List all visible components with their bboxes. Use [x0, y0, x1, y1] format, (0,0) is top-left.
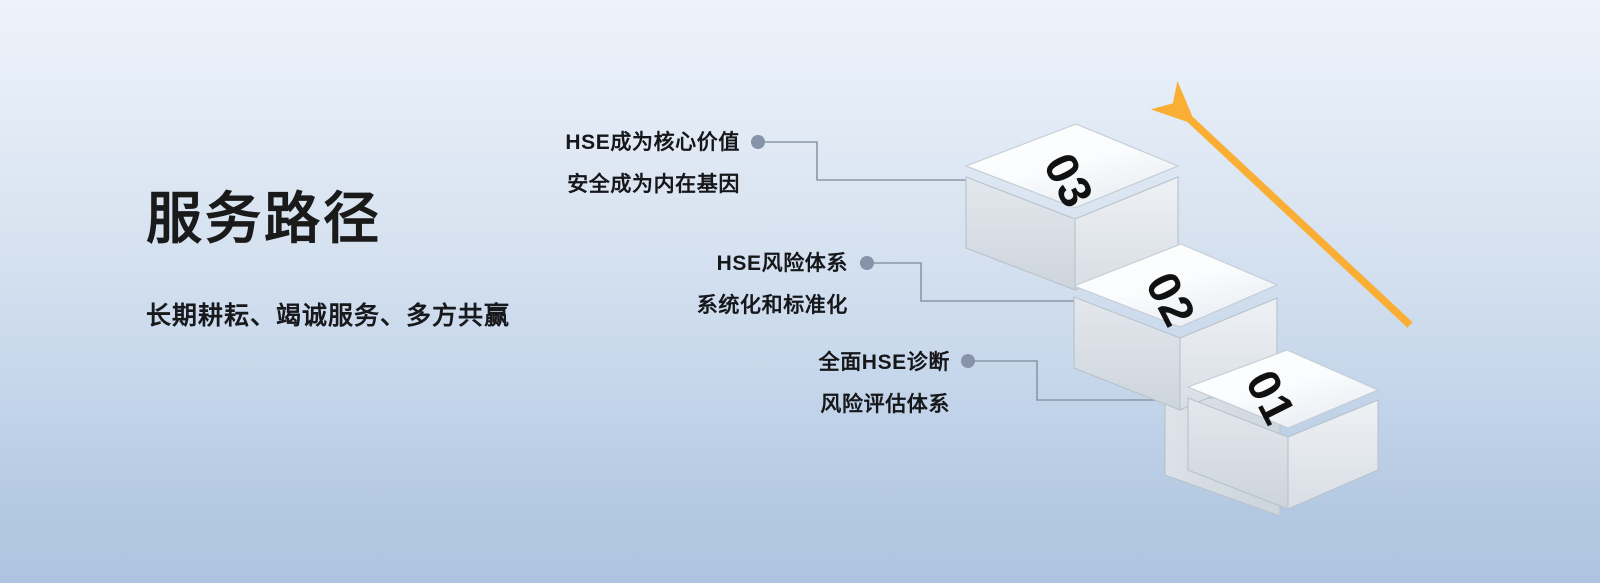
step-02-front-right — [1180, 298, 1277, 410]
callout-step-02-line2: 系统化和标准化 — [480, 295, 848, 316]
step-02-number: 02 — [1136, 264, 1206, 335]
callout-step-03-line2: 安全成为内在基因 — [360, 174, 740, 195]
step-01-riser-face — [1165, 398, 1280, 516]
step-03-number: 03 — [1034, 145, 1104, 216]
callout-step-01-line1: 全面HSE诊断 — [819, 351, 950, 374]
callout-step-03-line1: HSE成为核心价值 — [565, 131, 740, 154]
connector-dot-step-03 — [751, 135, 765, 149]
callout-label-step-03: HSE成为核心价值 安全成为内在基因 — [360, 132, 740, 195]
connector-dot-step-01 — [961, 354, 975, 368]
step-01-number: 01 — [1236, 362, 1306, 433]
callout-step-01-line2: 风险评估体系 — [600, 394, 950, 415]
slide-canvas: 服务路径 长期耕耘、竭诚服务、多方共赢 HSE成为核心价值 安全成为内在基因 H… — [0, 0, 1600, 583]
step-01-front-right — [1288, 400, 1378, 509]
step-02-front-left — [1074, 297, 1180, 410]
step-03-front-right — [1075, 177, 1178, 290]
step-01-front-left — [1188, 398, 1288, 509]
connector-line-step-02 — [866, 263, 1076, 301]
step-01-top-face — [1188, 350, 1378, 428]
connector-dot-step-02 — [860, 256, 874, 270]
step-02-top-face — [1074, 244, 1277, 327]
step-02[interactable]: 02 — [1074, 244, 1277, 410]
growth-arrow — [1180, 110, 1410, 325]
step-03-top-face — [966, 124, 1178, 208]
step-03[interactable]: 03 — [966, 124, 1178, 290]
step-03-front-left — [966, 177, 1075, 290]
step-01[interactable]: 01 — [1188, 350, 1378, 509]
callout-step-02-line1: HSE风险体系 — [717, 252, 848, 275]
step-01-riser — [1165, 398, 1280, 516]
callout-label-step-01: 全面HSE诊断 风险评估体系 — [600, 352, 950, 415]
connector-line-step-01 — [967, 361, 1192, 400]
connector-line-step-03 — [757, 142, 968, 180]
callout-label-step-02: HSE风险体系 系统化和标准化 — [480, 253, 848, 316]
